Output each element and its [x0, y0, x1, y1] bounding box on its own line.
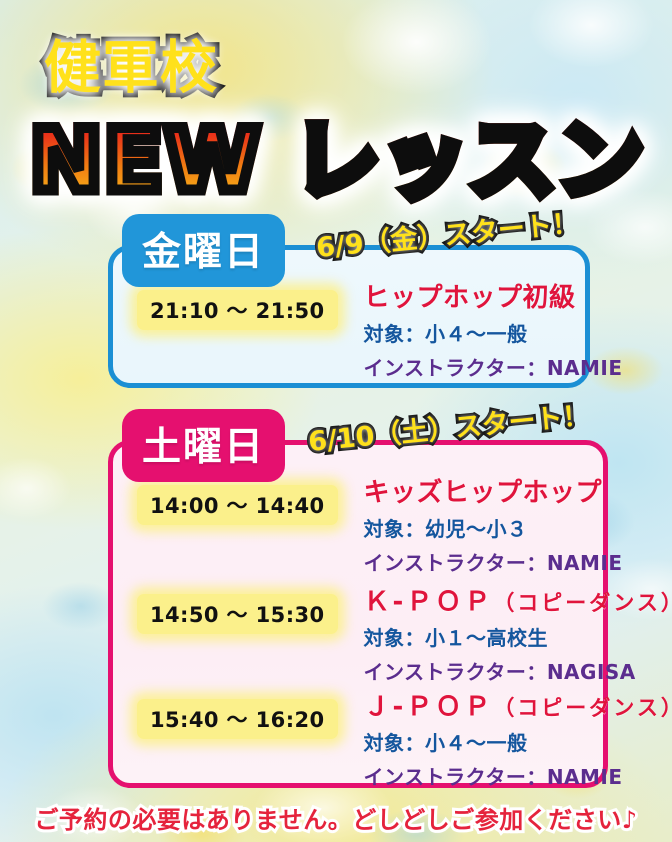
lesson-title: ヒップホップ初級: [364, 284, 623, 313]
lesson-title-main: Ｋ-ＰＯＰ: [364, 587, 494, 617]
lesson-row: 21:10 ～ 21:50 ヒップホップ初級 対象：小４～一般 インストラクター…: [113, 284, 585, 381]
lesson-info: キッズヒップホップ 対象：幼児～小３ インストラクター：NAMIE: [364, 479, 623, 576]
lesson-target: 対象：小１～高校生: [364, 622, 672, 651]
lesson-instructor: インストラクター：NAMIE: [364, 547, 623, 576]
lesson-time: 15:40 ～ 16:20: [137, 699, 338, 739]
lesson-title: Ｊ-ＰＯＰ（コピーダンス）: [364, 693, 672, 722]
schedule-card-saturday: 14:00 ～ 14:40 キッズヒップホップ 対象：幼児～小３ インストラクタ…: [108, 440, 608, 788]
lesson-row: 14:50 ～ 15:30 Ｋ-ＰＯＰ（コピーダンス） 対象：小１～高校生 イン…: [113, 588, 603, 685]
lesson-title-sub: （コピーダンス）: [493, 696, 672, 720]
lesson-info: ヒップホップ初級 対象：小４～一般 インストラクター：NAMIE: [364, 284, 623, 381]
day-badge-saturday: 土曜日: [126, 413, 281, 478]
footer-note: ご予約の必要はありません。どしどしご参加ください♪: [0, 800, 672, 835]
lesson-info: Ｊ-ＰＯＰ（コピーダンス） 対象：小４～一般 インストラクター：NAMIE: [364, 693, 672, 790]
lesson-target: 対象：小４～一般: [364, 727, 672, 756]
lesson-instructor: インストラクター：NAMIE: [364, 352, 623, 381]
lesson-instructor: インストラクター：NAGISA: [364, 656, 672, 685]
lesson-target: 対象：小４～一般: [364, 318, 623, 347]
lesson-instructor: インストラクター：NAMIE: [364, 761, 672, 790]
lesson-info: Ｋ-ＰＯＰ（コピーダンス） 対象：小１～高校生 インストラクター：NAGISA: [364, 588, 672, 685]
lesson-title: キッズヒップホップ: [364, 479, 623, 508]
lesson-row: 14:00 ～ 14:40 キッズヒップホップ 対象：幼児～小３ インストラクタ…: [113, 479, 603, 576]
lesson-title-main: Ｊ-ＰＯＰ: [364, 692, 494, 722]
page-title: NEW レッスン: [30, 90, 646, 215]
day-badge-friday: 金曜日: [126, 218, 281, 283]
lesson-title: Ｋ-ＰＯＰ（コピーダンス）: [364, 588, 672, 617]
lesson-time: 21:10 ～ 21:50: [137, 290, 338, 330]
lesson-time: 14:00 ～ 14:40: [137, 485, 338, 525]
lesson-time: 14:50 ～ 15:30: [137, 594, 338, 634]
lesson-target: 対象：幼児～小３: [364, 513, 623, 542]
flyer-content: 健軍校 NEW レッスン 金曜日 6/9（金）スタート！ 21:10 ～ 21:…: [0, 0, 672, 842]
lesson-title-sub: （コピーダンス）: [493, 591, 672, 615]
lesson-row: 15:40 ～ 16:20 Ｊ-ＰＯＰ（コピーダンス） 対象：小４～一般 インス…: [113, 693, 603, 790]
